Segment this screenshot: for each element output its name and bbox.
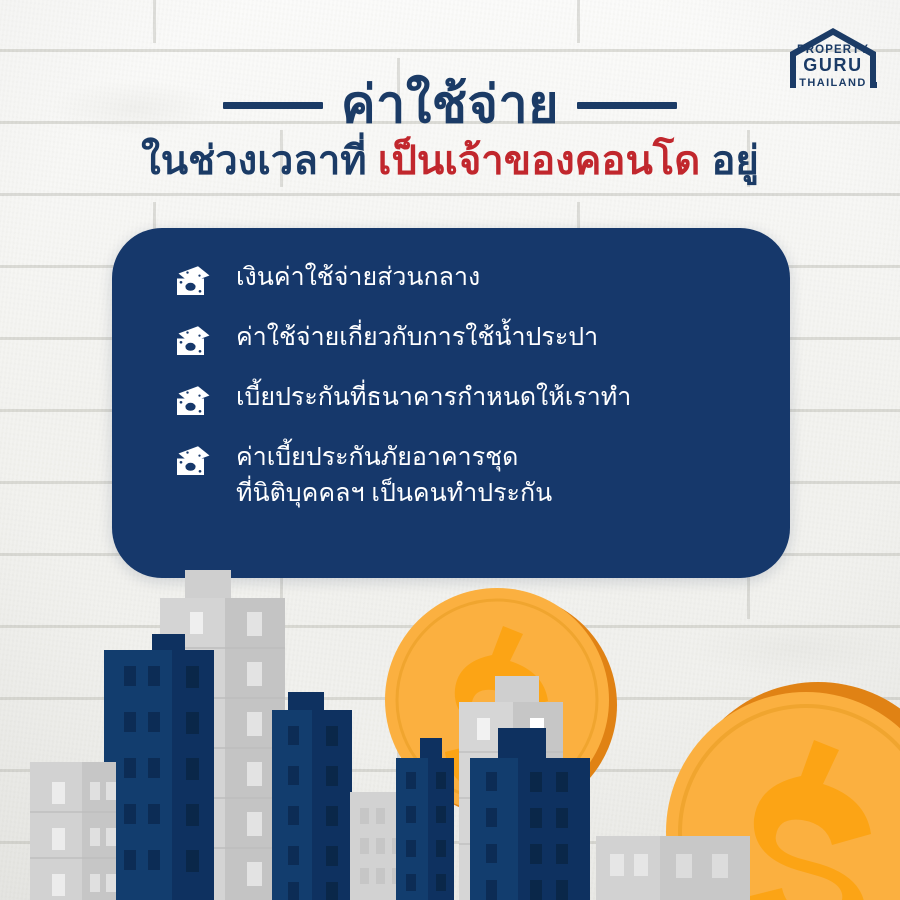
rule-left-icon [223, 102, 323, 109]
money-bills-icon [174, 444, 214, 478]
money-bills-icon [174, 384, 214, 418]
page-title: ค่าใช้จ่าย [341, 78, 559, 132]
list-item: เบี้ยประกันที่ธนาคารกำหนดให้เราทำ [174, 380, 760, 418]
list-item-line2: ที่นิติบุคคลฯ เป็นคนทำประกัน [236, 476, 552, 512]
building-gray-low-left [30, 762, 116, 900]
list-item-label: ค่าเบี้ยประกันภัยอาคารชุด ที่นิติบุคคลฯ … [236, 440, 552, 511]
building-navy-mid [272, 692, 352, 900]
svg-text:GURU: GURU [803, 55, 862, 75]
list-item-label: เงินค่าใช้จ่ายส่วนกลาง [236, 260, 480, 296]
list-item-line1: ค่าเบี้ยประกันภัยอาคารชุด [236, 443, 518, 471]
building-navy-tall [104, 634, 214, 900]
city-skyline-illustration [0, 570, 900, 900]
list-item: เงินค่าใช้จ่ายส่วนกลาง [174, 260, 760, 298]
money-bills-icon [174, 324, 214, 358]
building-navy-slim [396, 738, 454, 900]
subtitle-suffix: อยู่ [700, 139, 759, 183]
headline-block: ค่าใช้จ่าย ในช่วงเวลาที่ เป็นเจ้าของคอนโ… [0, 78, 900, 185]
subtitle-prefix: ในช่วงเวลาที่ [141, 139, 378, 183]
list-item: ค่าใช้จ่ายเกี่ยวกับการใช้น้ำประปา [174, 320, 760, 358]
list-item: ค่าเบี้ยประกันภัยอาคารชุด ที่นิติบุคคลฯ … [174, 440, 760, 511]
rule-right-icon [577, 102, 677, 109]
list-item-label: ค่าใช้จ่ายเกี่ยวกับการใช้น้ำประปา [236, 320, 598, 356]
expense-list-card: เงินค่าใช้จ่ายส่วนกลาง [112, 228, 790, 578]
page-subtitle: ในช่วงเวลาที่ เป็นเจ้าของคอนโด อยู่ [0, 138, 900, 185]
money-bills-icon [174, 264, 214, 298]
building-gray-low-right [596, 836, 750, 900]
infographic-poster: PROPERTY GURU THAILAND ค่าใช้จ่าย ในช่วง… [0, 0, 900, 900]
subtitle-highlight: เป็นเจ้าของคอนโด [378, 139, 700, 183]
list-item-label: เบี้ยประกันที่ธนาคารกำหนดให้เราทำ [236, 380, 631, 416]
expense-list: เงินค่าใช้จ่ายส่วนกลาง [174, 260, 760, 511]
